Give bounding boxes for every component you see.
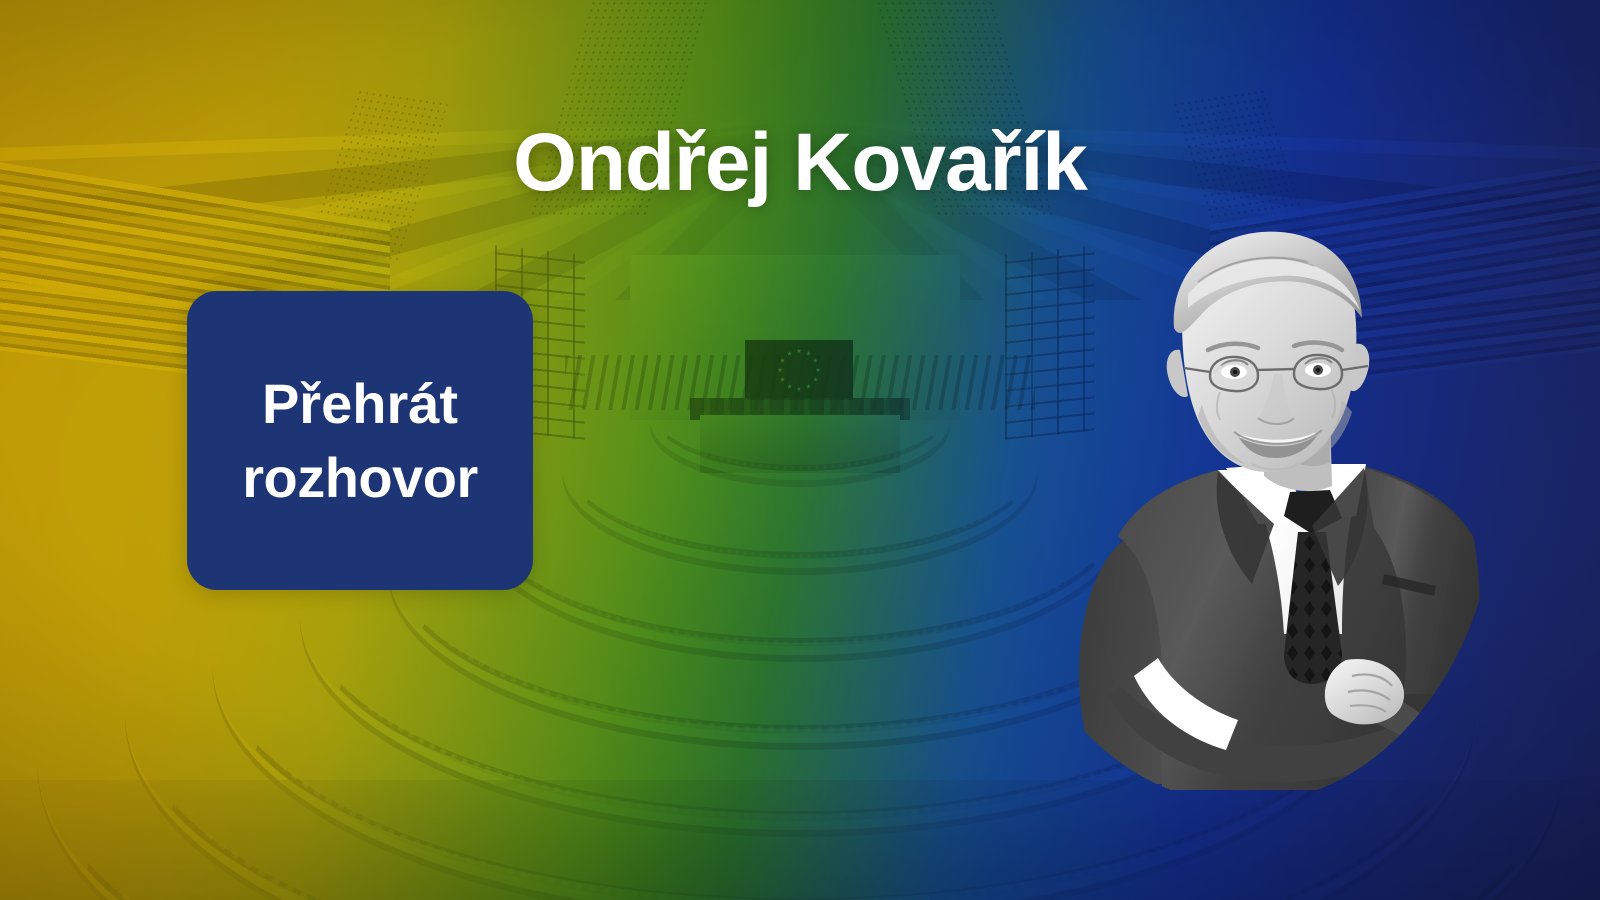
play-button-label-line2: rozhovor — [242, 441, 478, 515]
play-button-label-line1: Přehrát — [262, 367, 458, 441]
play-interview-button[interactable]: Přehrát rozhovor — [187, 291, 533, 590]
portrait-cutout: Ondřej Kovařík – grayscale portrait, sui… — [1012, 224, 1482, 790]
thumbnail-card: Ondřej Kovařík – grayscale portrait, sui… — [0, 0, 1600, 900]
page-title: Ondřej Kovařík — [0, 122, 1600, 204]
